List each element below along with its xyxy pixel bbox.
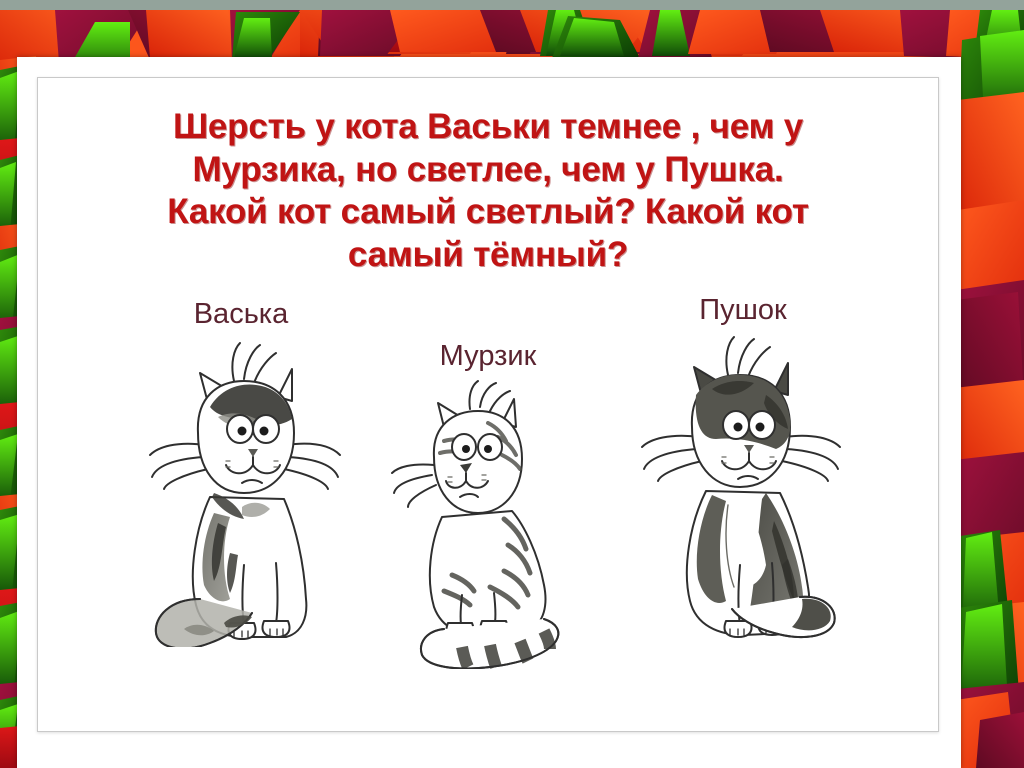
title-line-4: самый тёмный? [46, 234, 930, 277]
cat-illustration-icon-pushok [616, 333, 871, 643]
cat-card-pushok: Пушок [608, 296, 878, 643]
title-line-1: Шерсть у кота Васьки темнее , чем у [46, 106, 930, 149]
title-line-2: Мурзика, но светлее, чем у Пушка. [46, 149, 930, 192]
cat-illustration-icon-vaska [126, 337, 356, 647]
cat-card-murzik: Мурзик [368, 342, 608, 669]
cat-label-murzik: Мурзик [368, 342, 608, 371]
cat-illustration-icon-murzik [378, 379, 598, 669]
slide-canvas: Шерсть у кота Васьки темнее , чем у Мурз… [0, 0, 1024, 768]
page-title: Шерсть у кота Васьки темнее , чем у Мурз… [38, 106, 938, 277]
cats-illustration-group: Васька [38, 296, 938, 716]
cat-label-pushok: Пушок [608, 296, 878, 325]
top-gray-strip [0, 0, 1024, 10]
slide-card-inner: Шерсть у кота Васьки темнее , чем у Мурз… [37, 77, 939, 732]
slide-card: Шерсть у кота Васьки темнее , чем у Мурз… [17, 57, 961, 768]
title-line-3: Какой кот самый светлый? Какой кот [46, 191, 930, 234]
cat-card-vaska: Васька [116, 300, 366, 647]
cat-label-vaska: Васька [116, 300, 366, 329]
